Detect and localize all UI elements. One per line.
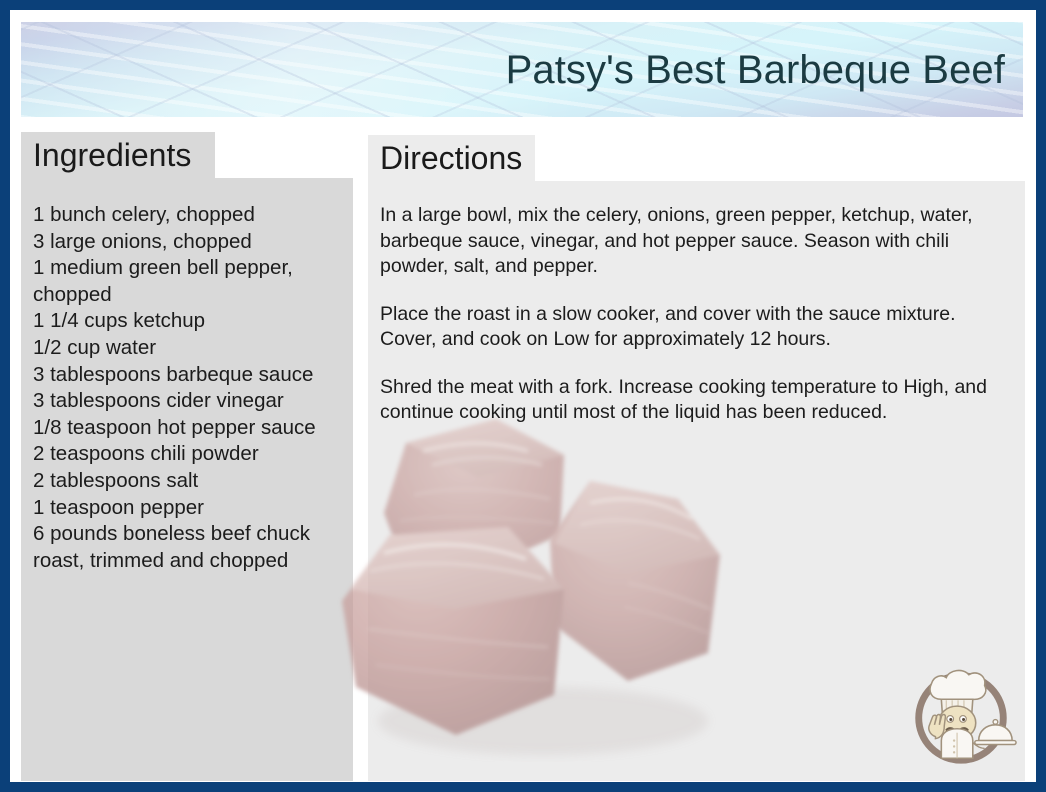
header-banner: Patsy's Best Barbeque Beef <box>21 22 1023 117</box>
chef-mascot-logo <box>902 656 1020 774</box>
list-item: 1/8 teaspoon hot pepper sauce <box>33 415 343 442</box>
list-item: 2 tablespoons salt <box>33 468 343 495</box>
serving-dome-icon <box>973 720 1016 749</box>
direction-step: Shred the meat with a fork. Increase coo… <box>380 375 1009 426</box>
list-item: 1 medium green bell pepper, chopped <box>33 255 343 308</box>
direction-step: In a large bowl, mix the celery, onions,… <box>380 203 1009 280</box>
list-item: 3 tablespoons cider vinegar <box>33 388 343 415</box>
ingredients-list: 1 bunch celery, chopped 3 large onions, … <box>33 202 343 574</box>
directions-body: In a large bowl, mix the celery, onions,… <box>380 203 1009 426</box>
ingredients-panel: 1 bunch celery, chopped 3 large onions, … <box>21 178 353 781</box>
list-item: 1 bunch celery, chopped <box>33 202 343 229</box>
list-item: 1/2 cup water <box>33 335 343 362</box>
list-item: 3 large onions, chopped <box>33 229 343 256</box>
list-item: 3 tablespoons barbeque sauce <box>33 362 343 389</box>
recipe-card-inner: Patsy's Best Barbeque Beef Ingredients D… <box>10 10 1036 782</box>
tab-directions[interactable]: Directions <box>368 135 535 181</box>
direction-step: Place the roast in a slow cooker, and co… <box>380 302 1009 353</box>
tab-ingredients[interactable]: Ingredients <box>21 132 215 178</box>
recipe-card: Patsy's Best Barbeque Beef Ingredients D… <box>0 0 1046 792</box>
list-item: 1 teaspoon pepper <box>33 495 343 522</box>
list-item: 2 teaspoons chili powder <box>33 441 343 468</box>
page-title: Patsy's Best Barbeque Beef <box>506 49 1005 91</box>
list-item: 6 pounds boneless beef chuck roast, trim… <box>33 521 343 574</box>
list-item: 1 1/4 cups ketchup <box>33 308 343 335</box>
